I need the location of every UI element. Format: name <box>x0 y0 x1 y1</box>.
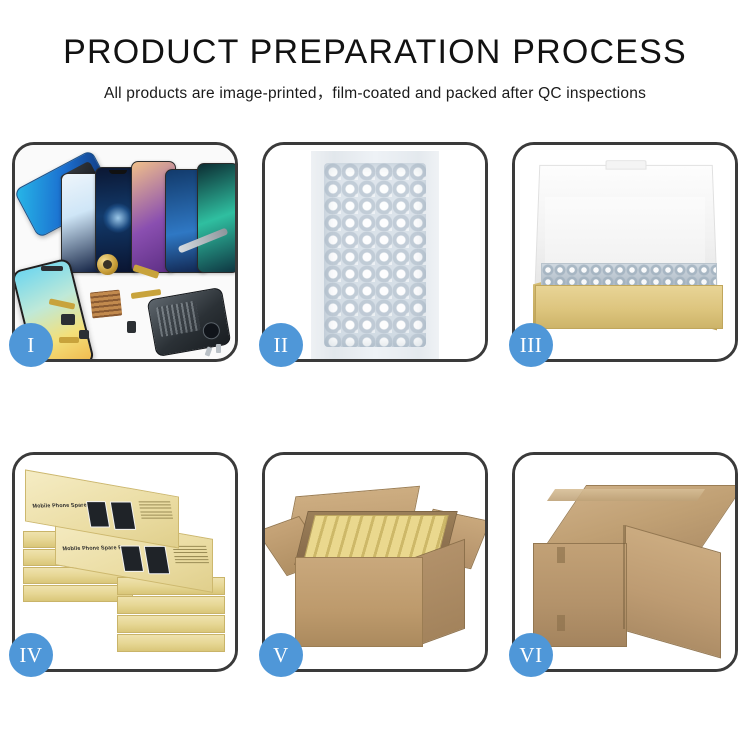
step-panel-5: V <box>262 452 488 672</box>
box-spec-lines-1 <box>139 501 174 520</box>
step-image-2 <box>265 145 485 359</box>
step-panel-4: Mobile Phone Spare Parts Mobile Phone Sp… <box>12 452 238 672</box>
step-badge-2: II <box>259 323 303 367</box>
carton-seam-1 <box>557 547 565 563</box>
step-panel-3: III <box>512 142 738 362</box>
step-panel-1: I <box>12 142 238 362</box>
step-badge-5: V <box>259 633 303 677</box>
sealed-carton-side <box>625 525 721 659</box>
flex-cable-4 <box>59 337 79 343</box>
lid-tab <box>606 160 647 169</box>
stacked-box-edge-8 <box>117 634 225 652</box>
step-image-4: Mobile Phone Spare Parts Mobile Phone Sp… <box>15 455 235 669</box>
copper-grid-part <box>90 290 123 319</box>
step-badge-6: VI <box>509 633 553 677</box>
stacked-box-edge-6 <box>117 596 225 614</box>
page-title: PRODUCT PREPARATION PROCESS <box>0 34 750 71</box>
phone-screen-row <box>61 161 235 273</box>
chip-part-2 <box>61 314 75 325</box>
step-image-5 <box>265 455 485 669</box>
steps-grid: I II III <box>12 142 738 672</box>
step-image-1 <box>15 145 235 359</box>
screw-part-1 <box>216 344 221 353</box>
box-spec-lines-2 <box>173 546 210 565</box>
product-preparation-page: PRODUCT PREPARATION PROCESS All products… <box>0 0 750 750</box>
step-image-6 <box>515 455 735 669</box>
box-screen-image-2 <box>110 501 137 529</box>
page-header: PRODUCT PREPARATION PROCESS All products… <box>0 0 750 103</box>
notch-icon <box>109 170 127 174</box>
box-screen-image-1 <box>86 501 110 527</box>
step-badge-4: IV <box>9 633 53 677</box>
bubble-wrap <box>324 163 426 347</box>
box-screen-image-4 <box>144 546 171 574</box>
chip-part-3 <box>79 330 89 339</box>
box-stack: Mobile Phone Spare Parts Mobile Phone Sp… <box>21 479 229 659</box>
stacked-box-edge-7 <box>117 615 225 633</box>
carton-seam-2 <box>557 615 565 631</box>
sealed-carton-edge <box>623 525 625 629</box>
sealed-carton-front <box>533 543 627 647</box>
carton-front-face <box>295 557 423 647</box>
page-subtitle: All products are image-printed，film-coat… <box>0 81 750 103</box>
inner-box-front <box>535 285 723 329</box>
chip-part-1 <box>41 266 63 271</box>
step-badge-1: I <box>9 323 53 367</box>
step-panel-2: II <box>262 142 488 362</box>
box-screen-image-3 <box>120 545 144 571</box>
packing-tape-strip <box>547 489 705 501</box>
gold-coil-part <box>97 254 118 275</box>
step-panel-6: VI <box>512 452 738 672</box>
phone-screen-5 <box>197 163 235 273</box>
step-badge-3: III <box>509 323 553 367</box>
step-image-3 <box>515 145 735 359</box>
chip-part-4 <box>127 321 136 333</box>
